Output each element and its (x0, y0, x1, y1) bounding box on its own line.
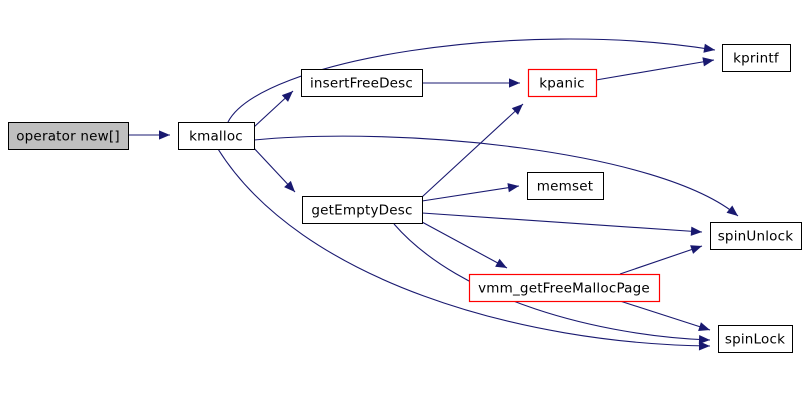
edge-kpanic-to-kprintf (596, 55, 715, 80)
node-kmalloc[interactable]: kmalloc (179, 123, 255, 150)
edge-vmm_getFreeMallocPage-to-spinUnlock (620, 242, 703, 274)
arrowhead-icon (698, 322, 711, 334)
arrowhead-icon (703, 44, 715, 55)
arrowhead-icon (159, 130, 170, 139)
node-label: kmalloc (189, 129, 243, 145)
node-memset[interactable]: memset (528, 173, 604, 200)
nodes-layer: operator new[]kmallocinsertFreeDesckpani… (9, 45, 802, 353)
node-label: operator new[] (16, 129, 120, 145)
edge-getEmptyDesc-to-kpanic (422, 101, 526, 197)
edge-kmalloc-to-spinLock (218, 149, 710, 351)
node-spinUnlock[interactable]: spinUnlock (711, 223, 802, 250)
arrowhead-icon (509, 78, 520, 87)
call-graph-svg: operator new[]kmallocinsertFreeDesckpani… (0, 0, 808, 407)
node-kpanic[interactable]: kpanic (529, 70, 597, 97)
node-label: kprintf (733, 51, 780, 67)
edge-getEmptyDesc-to-vmm_getFreeMallocPage (422, 222, 509, 272)
edge-line (620, 246, 702, 274)
arrowhead-icon (690, 242, 703, 254)
node-getEmptyDesc[interactable]: getEmptyDesc (303, 197, 423, 224)
edge-line (422, 104, 523, 197)
node-label: spinLock (725, 332, 785, 348)
node-label: insertFreeDesc (310, 76, 413, 92)
node-kprintf[interactable]: kprintf (723, 45, 791, 72)
edge-line (218, 149, 710, 346)
arrowhead-icon (727, 206, 741, 220)
node-spinLock[interactable]: spinLock (719, 326, 793, 353)
edge-line (620, 301, 710, 330)
edges-layer (128, 39, 741, 351)
node-label: vmm_getFreeMallocPage (478, 281, 650, 297)
node-insertFreeDesc[interactable]: insertFreeDesc (302, 70, 423, 97)
edge-operator_new-to-kmalloc (128, 130, 170, 139)
arrowhead-icon (495, 259, 509, 272)
edge-line (422, 186, 519, 201)
node-label: memset (537, 179, 593, 195)
node-label: getEmptyDesc (311, 203, 412, 219)
node-label: spinUnlock (718, 229, 794, 245)
edge-getEmptyDesc-to-spinUnlock (422, 213, 702, 237)
edge-line (596, 60, 714, 80)
edge-vmm_getFreeMallocPage-to-spinLock (620, 301, 711, 334)
arrowhead-icon (702, 55, 714, 66)
node-label: kpanic (539, 76, 585, 92)
edge-getEmptyDesc-to-memset (422, 181, 520, 201)
arrowhead-icon (699, 341, 710, 350)
node-operator_new[interactable]: operator new[] (9, 123, 129, 150)
edge-line (422, 222, 507, 268)
node-vmm_getFreeMallocPage[interactable]: vmm_getFreeMallocPage (470, 275, 660, 302)
arrowhead-icon (691, 227, 703, 237)
call-graph-canvas: operator new[]kmallocinsertFreeDesckpani… (0, 0, 808, 407)
arrowhead-icon (507, 181, 519, 192)
edge-line (422, 213, 702, 232)
edge-insertFreeDesc-to-kpanic (422, 78, 520, 87)
edge-kmalloc-to-getEmptyDesc (252, 146, 298, 195)
